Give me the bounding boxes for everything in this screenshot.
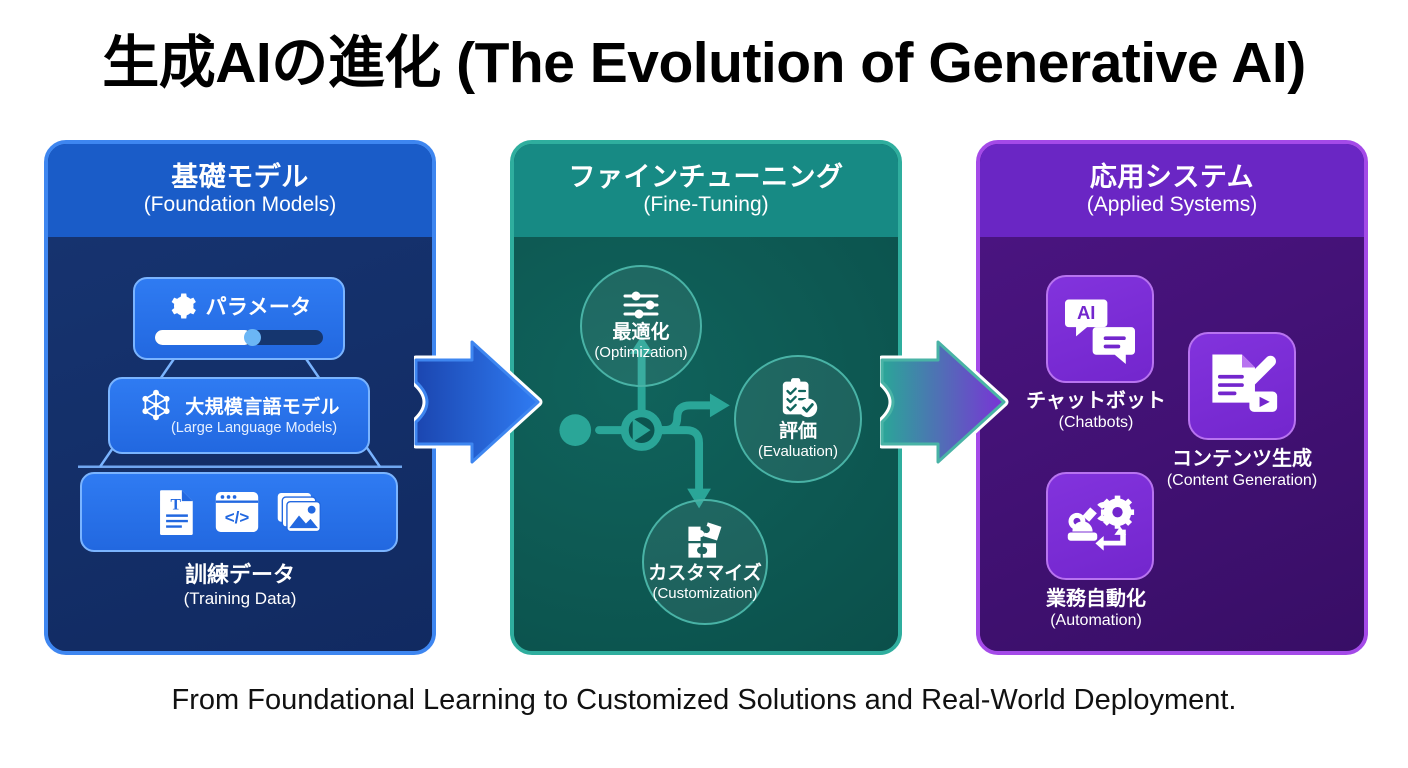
label-automation-en: (Automation) (976, 611, 1220, 632)
svg-text:</>: </> (225, 508, 250, 527)
sliders-icon (621, 290, 661, 320)
panel-fine-tuning: ファインチューニング (Fine-Tuning) (510, 140, 902, 655)
label-automation: 業務自動化 (Automation) (976, 587, 1220, 632)
svg-text:T: T (171, 497, 182, 514)
panel-finetune-title-en: (Fine-Tuning) (643, 192, 768, 218)
panel-applied-title-en: (Applied Systems) (1087, 192, 1257, 218)
parameters-slider[interactable] (155, 330, 323, 345)
tile-automation (1046, 472, 1154, 580)
panel-applied-title-jp: 応用システム (1090, 162, 1254, 192)
training-data-label-jp: 訓練データ (48, 562, 432, 588)
arrow-finetune-to-applied (880, 338, 1010, 466)
panel-applied-header: 応用システム (Applied Systems) (980, 144, 1364, 237)
label-content-jp: コンテンツ生成 (1130, 447, 1354, 471)
card-llm-row: 大規模言語モデル (110, 388, 368, 422)
panel-applied-systems: 応用システム (Applied Systems) AI チャットボット (Cha… (976, 140, 1368, 655)
page-title: 生成AIの進化 (The Evolution of Generative AI) (0, 32, 1408, 95)
label-automation-jp: 業務自動化 (976, 587, 1220, 611)
infographic-canvas: 生成AIの進化 (The Evolution of Generative AI)… (0, 0, 1408, 768)
arrow-foundation-to-finetune (414, 338, 544, 466)
node-customization: カスタマイズ (Customization) (642, 499, 768, 625)
panel-finetune-body: 最適化 (Optimization) 評価 (Evaluation) (514, 237, 898, 651)
panel-foundation-models: 基礎モデル (Foundation Models) パラメータ (44, 140, 436, 655)
card-parameters: パラメータ (133, 277, 345, 360)
label-content-generation: コンテンツ生成 (Content Generation) (1130, 447, 1354, 492)
image-stack-icon (276, 490, 322, 534)
panel-foundation-body: パラメータ (48, 237, 432, 651)
panel-applied-body: AI チャットボット (Chatbots) (980, 237, 1364, 651)
tile-chatbot: AI (1046, 275, 1154, 383)
panel-finetune-header: ファインチューニング (Fine-Tuning) (514, 144, 898, 237)
tile-content-generation (1188, 332, 1296, 440)
clipboard-check-icon (778, 377, 818, 419)
card-large-language-models: 大規模言語モデル (Large Language Models) (108, 377, 370, 454)
panel-finetune-title-jp: ファインチューニング (569, 162, 844, 192)
panel-foundation-header: 基礎モデル (Foundation Models) (48, 144, 432, 237)
label-chatbot-jp: チャットボット (976, 389, 1220, 413)
panel-foundation-title-en: (Foundation Models) (144, 192, 337, 218)
footer-caption: From Foundational Learning to Customized… (0, 684, 1408, 717)
node-optimization-jp: 最適化 (612, 322, 669, 344)
card-llm-label-en: (Large Language Models) (140, 420, 368, 436)
panel-foundation-title-jp: 基礎モデル (171, 162, 309, 192)
flow-start-node (559, 414, 591, 446)
node-customization-en: (Customization) (652, 585, 757, 604)
label-content-en: (Content Generation) (1130, 471, 1354, 492)
parameters-slider-fill (155, 330, 252, 345)
network-graph-icon (138, 387, 174, 423)
card-parameters-row: パラメータ (135, 286, 343, 326)
node-optimization-en: (Optimization) (594, 344, 687, 363)
training-data-label: 訓練データ (Training Data) (48, 562, 432, 611)
ai-chat-bubble-icon: AI (1063, 294, 1137, 364)
training-data-label-en: (Training Data) (48, 588, 432, 611)
text-document-icon: T (156, 489, 198, 535)
node-evaluation-jp: 評価 (779, 421, 817, 443)
node-evaluation-en: (Evaluation) (758, 443, 838, 462)
node-optimization: 最適化 (Optimization) (580, 265, 702, 387)
robot-arm-gear-icon (1063, 491, 1137, 561)
code-window-icon: </> (214, 490, 260, 534)
card-training-data: T </> (80, 472, 398, 552)
parameters-slider-knob[interactable] (244, 329, 261, 346)
document-brush-play-icon (1205, 350, 1279, 422)
node-evaluation: 評価 (Evaluation) (734, 355, 862, 483)
training-data-icon-row: T </> (82, 474, 396, 550)
node-customization-jp: カスタマイズ (648, 563, 761, 585)
label-chatbot: チャットボット (Chatbots) (976, 389, 1220, 434)
label-chatbot-en: (Chatbots) (976, 413, 1220, 434)
svg-text:AI: AI (1077, 302, 1095, 323)
card-parameters-label: パラメータ (206, 291, 312, 321)
card-llm-label-jp: 大規模言語モデル (185, 392, 339, 419)
puzzle-piece-icon (684, 521, 726, 561)
gear-icon (167, 291, 197, 321)
